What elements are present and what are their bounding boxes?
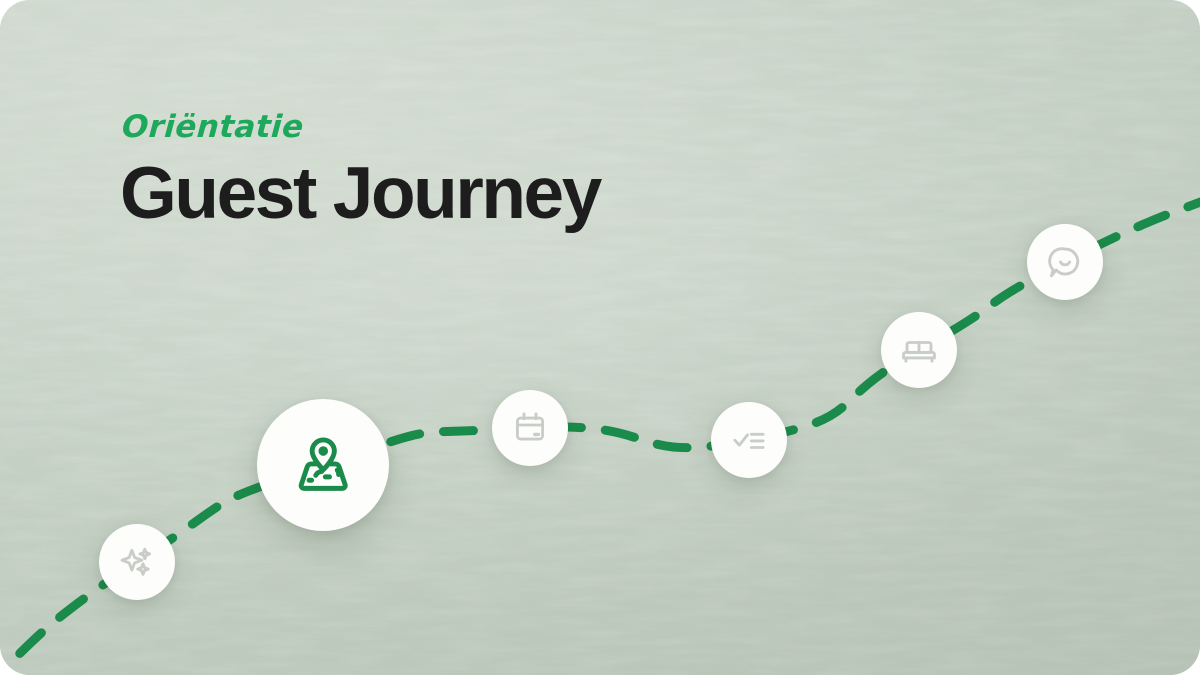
- chat-smile-icon: [1047, 244, 1083, 280]
- page-title: Guest Journey: [120, 157, 600, 230]
- journey-node-chat-smile[interactable]: [1027, 224, 1103, 300]
- guest-journey-slide: Oriëntatie Guest Journey: [0, 0, 1200, 675]
- journey-node-sparkles[interactable]: [99, 524, 175, 600]
- journey-node-map-pin[interactable]: [257, 399, 389, 531]
- map-pin-icon: [292, 434, 354, 496]
- background-vignette: [0, 0, 1200, 675]
- calendar-icon: [512, 410, 548, 446]
- checklist-icon: [731, 422, 767, 458]
- journey-node-bed[interactable]: [881, 312, 957, 388]
- sparkles-icon: [119, 544, 155, 580]
- bed-icon: [901, 332, 937, 368]
- slide-eyebrow: Oriëntatie: [121, 112, 601, 143]
- journey-node-checklist[interactable]: [711, 402, 787, 478]
- journey-node-calendar[interactable]: [492, 390, 568, 466]
- heading-block: Oriëntatie Guest Journey: [120, 112, 600, 230]
